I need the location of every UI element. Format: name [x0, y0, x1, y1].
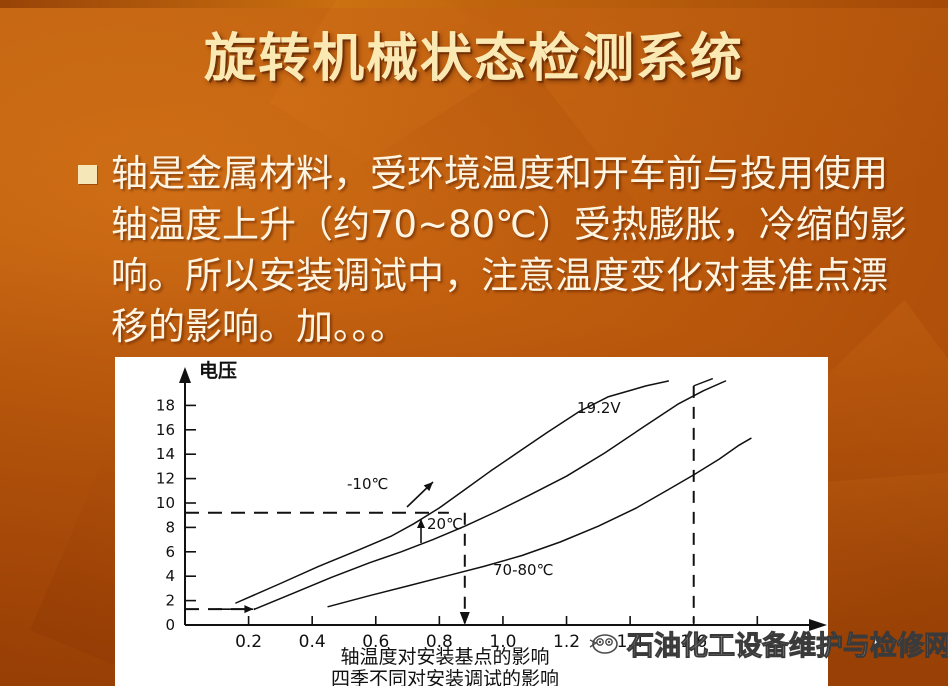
series-line-2 [328, 438, 751, 606]
y-tick-label: 12 [156, 470, 175, 488]
presentation-slide: 旋转机械状态检测系统 轴是金属材料，受环境温度和开车前与投用使用轴温度上升（约7… [0, 0, 948, 686]
site-watermark: 石油化工设备维护与检修网 [586, 624, 948, 663]
bullet-square-icon [78, 165, 97, 184]
y-axis-tick-labels: 024681012141618 [156, 396, 175, 634]
bullet-paragraph: 轴是金属材料，受环境温度和开车前与投用使用轴温度上升（约70~80℃）受热膨胀，… [78, 148, 918, 352]
y-axis-title: 电压 [199, 359, 237, 382]
operating-point-arrow [460, 612, 470, 625]
x-tick-label: 0.4 [299, 632, 326, 652]
top-accent-strip [0, 0, 948, 8]
low-dash-pointer-head [244, 605, 253, 613]
y-tick-label: 4 [165, 567, 175, 585]
chart-caption-line2: 四季不同对安装调试的影响 [331, 668, 559, 686]
y-tick-label: 8 [165, 518, 175, 536]
y-tick-label: 0 [165, 616, 175, 634]
chart-caption-line1: 轴温度对安装基点的影响 [340, 646, 549, 668]
y-axis-ticks [185, 405, 196, 600]
y-tick-label: 14 [156, 445, 175, 463]
x-tick-label: 1.2 [553, 632, 580, 652]
y-tick-label: 16 [156, 421, 175, 439]
body-text: 轴是金属材料，受环境温度和开车前与投用使用轴温度上升（约70~80℃）受热膨胀，… [111, 148, 918, 352]
y-tick-label: 2 [165, 592, 175, 610]
series-label-minus10: -10℃ [347, 475, 388, 493]
chart-axes [179, 367, 827, 631]
y-tick-label: 10 [156, 494, 175, 512]
y-tick-label: 18 [156, 396, 175, 414]
series-line-1 [255, 381, 726, 609]
y-tick-label: 6 [165, 543, 175, 561]
series-label-20c: 20℃ [427, 515, 463, 533]
series-label-70-80c: 70-80℃ [493, 561, 553, 579]
peak-voltage-label: 19.2V [577, 399, 621, 417]
owl-icon [586, 632, 620, 656]
peak-leader [694, 379, 713, 386]
slide-title: 旋转机械状态检测系统 [0, 16, 948, 91]
x-tick-label: 0.2 [235, 632, 262, 652]
watermark-text: 石油化工设备维护与检修网 [627, 624, 948, 663]
